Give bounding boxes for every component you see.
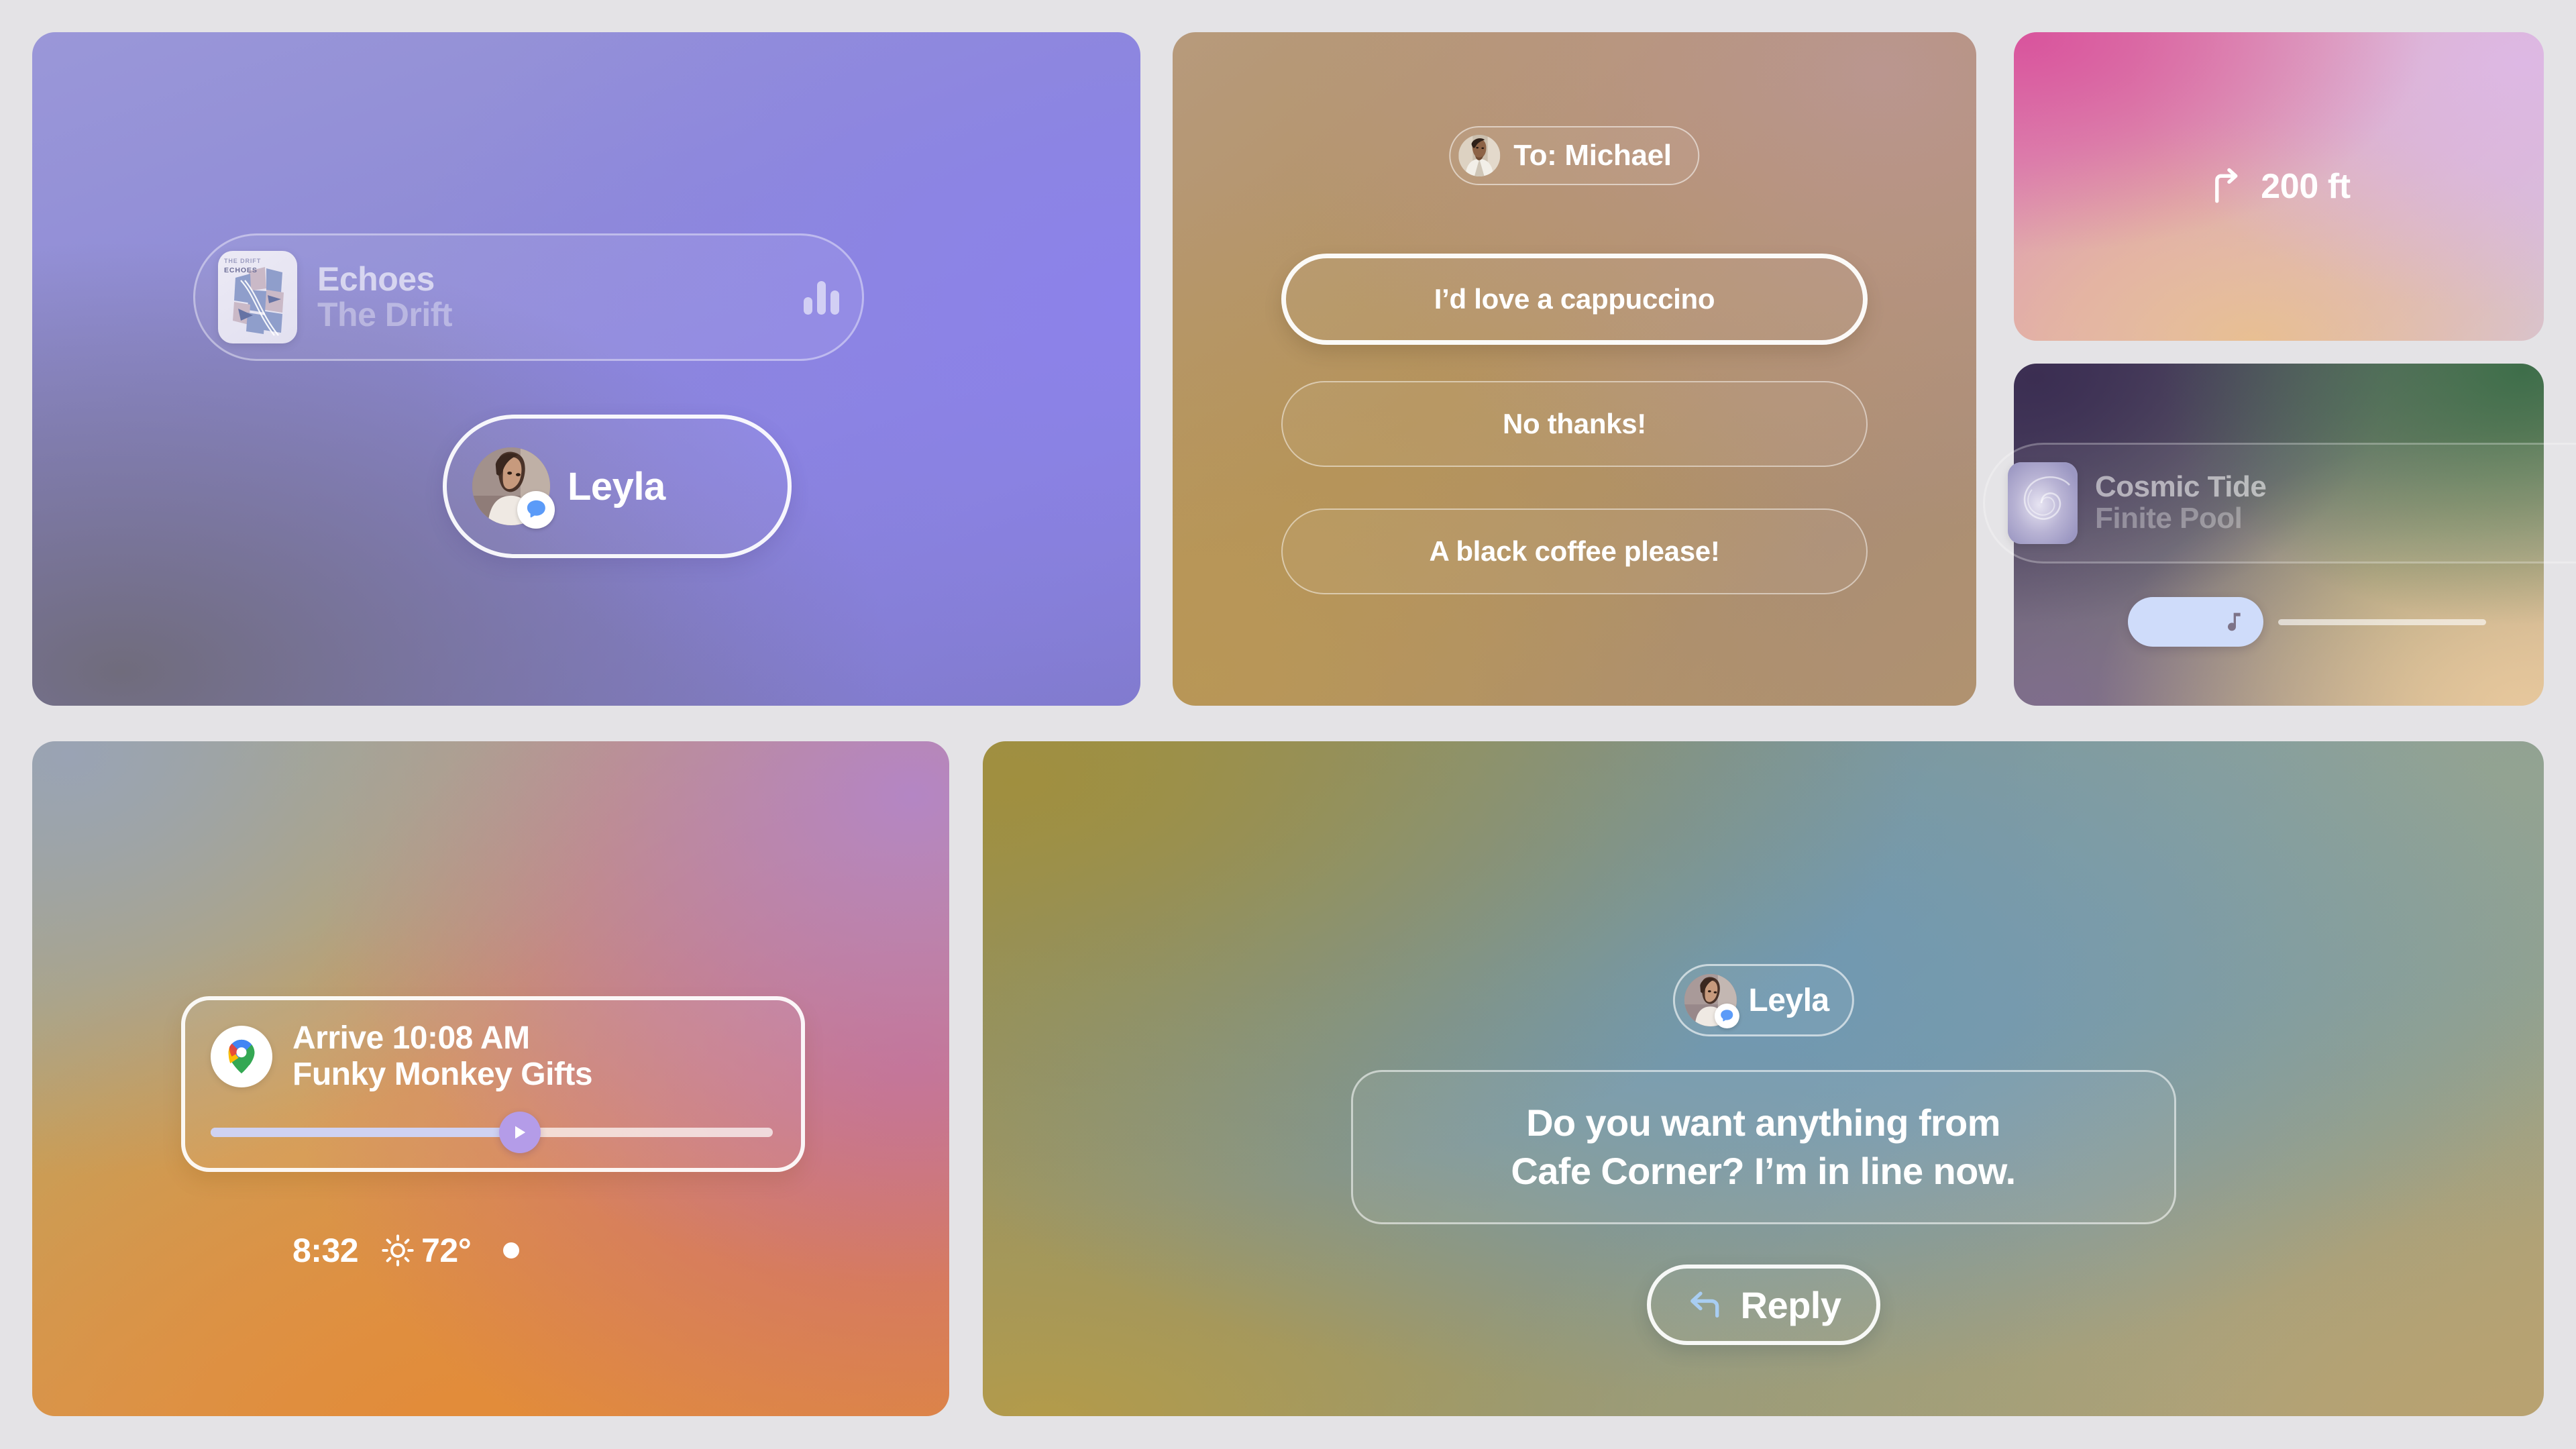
navigation-header: Arrive 10:08 AM Funky Monkey Gifts — [211, 1020, 773, 1093]
status-dot-icon — [503, 1242, 519, 1258]
message-bubble[interactable]: Do you want anything from Cafe Corner? I… — [1351, 1070, 2176, 1224]
reply-button[interactable]: Reply — [1647, 1265, 1880, 1345]
media-player-widget[interactable]: Cosmic Tide Finite Pool — [1983, 443, 2576, 563]
sender-name: Leyla — [1748, 982, 1829, 1019]
card-background — [32, 32, 1140, 706]
caller-pill-leyla[interactable]: Leyla — [443, 415, 792, 558]
card-music-with-caller[interactable]: THE DRIFT ECHOES Echoes The Drift — [32, 32, 1140, 706]
temperature-value: 72° — [421, 1231, 471, 1270]
music-note-icon — [2219, 608, 2246, 635]
reply-option-selected[interactable]: I’d love a cappuccino — [1281, 254, 1868, 345]
status-row: 8:32 72° — [292, 1231, 519, 1270]
google-maps-pin-icon — [211, 1026, 272, 1087]
message-line-1: Do you want anything from — [1526, 1102, 2000, 1144]
navigation-widget[interactable]: Arrive 10:08 AM Funky Monkey Gifts — [181, 996, 805, 1172]
reply-option[interactable]: No thanks! — [1281, 381, 1868, 467]
turn-right-icon — [2207, 167, 2246, 206]
album-art-caption: THE DRIFT ECHOES — [224, 257, 261, 276]
caller-name: Leyla — [568, 464, 665, 509]
media-player-widget[interactable]: THE DRIFT ECHOES Echoes The Drift — [193, 233, 864, 361]
avatar — [1458, 135, 1500, 176]
distance-value: 200 ft — [2261, 166, 2350, 207]
maneuver-readout: 200 ft — [2207, 166, 2350, 207]
track-title: Echoes — [317, 262, 804, 297]
album-art — [2008, 462, 2078, 544]
destination-line: Funky Monkey Gifts — [292, 1057, 592, 1093]
avatar — [472, 447, 550, 525]
track-artist: Finite Pool — [2095, 502, 2576, 535]
album-art: THE DRIFT ECHOES — [218, 251, 297, 343]
eta-line: Arrive 10:08 AM — [292, 1020, 592, 1057]
slider-thumb[interactable] — [499, 1112, 541, 1153]
recipient-pill[interactable]: To: Michael — [1449, 126, 1699, 185]
music-app-pill[interactable] — [2128, 597, 2263, 647]
reply-button-label: Reply — [1741, 1283, 1841, 1327]
messages-badge-icon — [517, 491, 555, 529]
card-incoming-message[interactable]: Leyla Do you want anything from Cafe Cor… — [983, 741, 2544, 1416]
equalizer-icon — [804, 280, 839, 315]
reply-arrow-icon — [1686, 1286, 1723, 1324]
avatar — [1684, 974, 1736, 1026]
messages-badge-icon — [1715, 1004, 1739, 1028]
sender-pill-leyla[interactable]: Leyla — [1672, 964, 1854, 1036]
route-progress-slider[interactable] — [211, 1128, 773, 1137]
sun-icon — [381, 1234, 415, 1267]
widget-board: THE DRIFT ECHOES Echoes The Drift — [0, 0, 2576, 1449]
navigation-text: Arrive 10:08 AM Funky Monkey Gifts — [292, 1020, 592, 1093]
track-title: Cosmic Tide — [2095, 472, 2576, 502]
message-line-2: Cafe Corner? I’m in line now. — [1511, 1150, 2015, 1192]
card-music-cosmic-tide[interactable]: Cosmic Tide Finite Pool — [2014, 364, 2544, 706]
card-nav-arrival[interactable]: Arrive 10:08 AM Funky Monkey Gifts 8:32 — [32, 741, 949, 1416]
slider-track[interactable] — [2278, 619, 2486, 625]
message-body: Do you want anything from Cafe Corner? I… — [1511, 1099, 2015, 1195]
track-artist: The Drift — [317, 297, 804, 333]
weather-group: 72° — [381, 1231, 471, 1270]
track-info: Cosmic Tide Finite Pool — [2095, 472, 2576, 535]
slider-progress — [211, 1128, 520, 1137]
card-nav-distance[interactable]: 200 ft — [2014, 32, 2544, 341]
navigation-arrow-icon — [511, 1123, 529, 1142]
card-suggested-replies[interactable]: To: Michael I’d love a cappuccino No tha… — [1173, 32, 1976, 706]
reply-option[interactable]: A black coffee please! — [1281, 508, 1868, 594]
music-app-slider[interactable] — [2128, 597, 2486, 647]
recipient-label: To: Michael — [1513, 139, 1671, 172]
track-info: Echoes The Drift — [317, 262, 804, 333]
clock-time: 8:32 — [292, 1231, 358, 1270]
